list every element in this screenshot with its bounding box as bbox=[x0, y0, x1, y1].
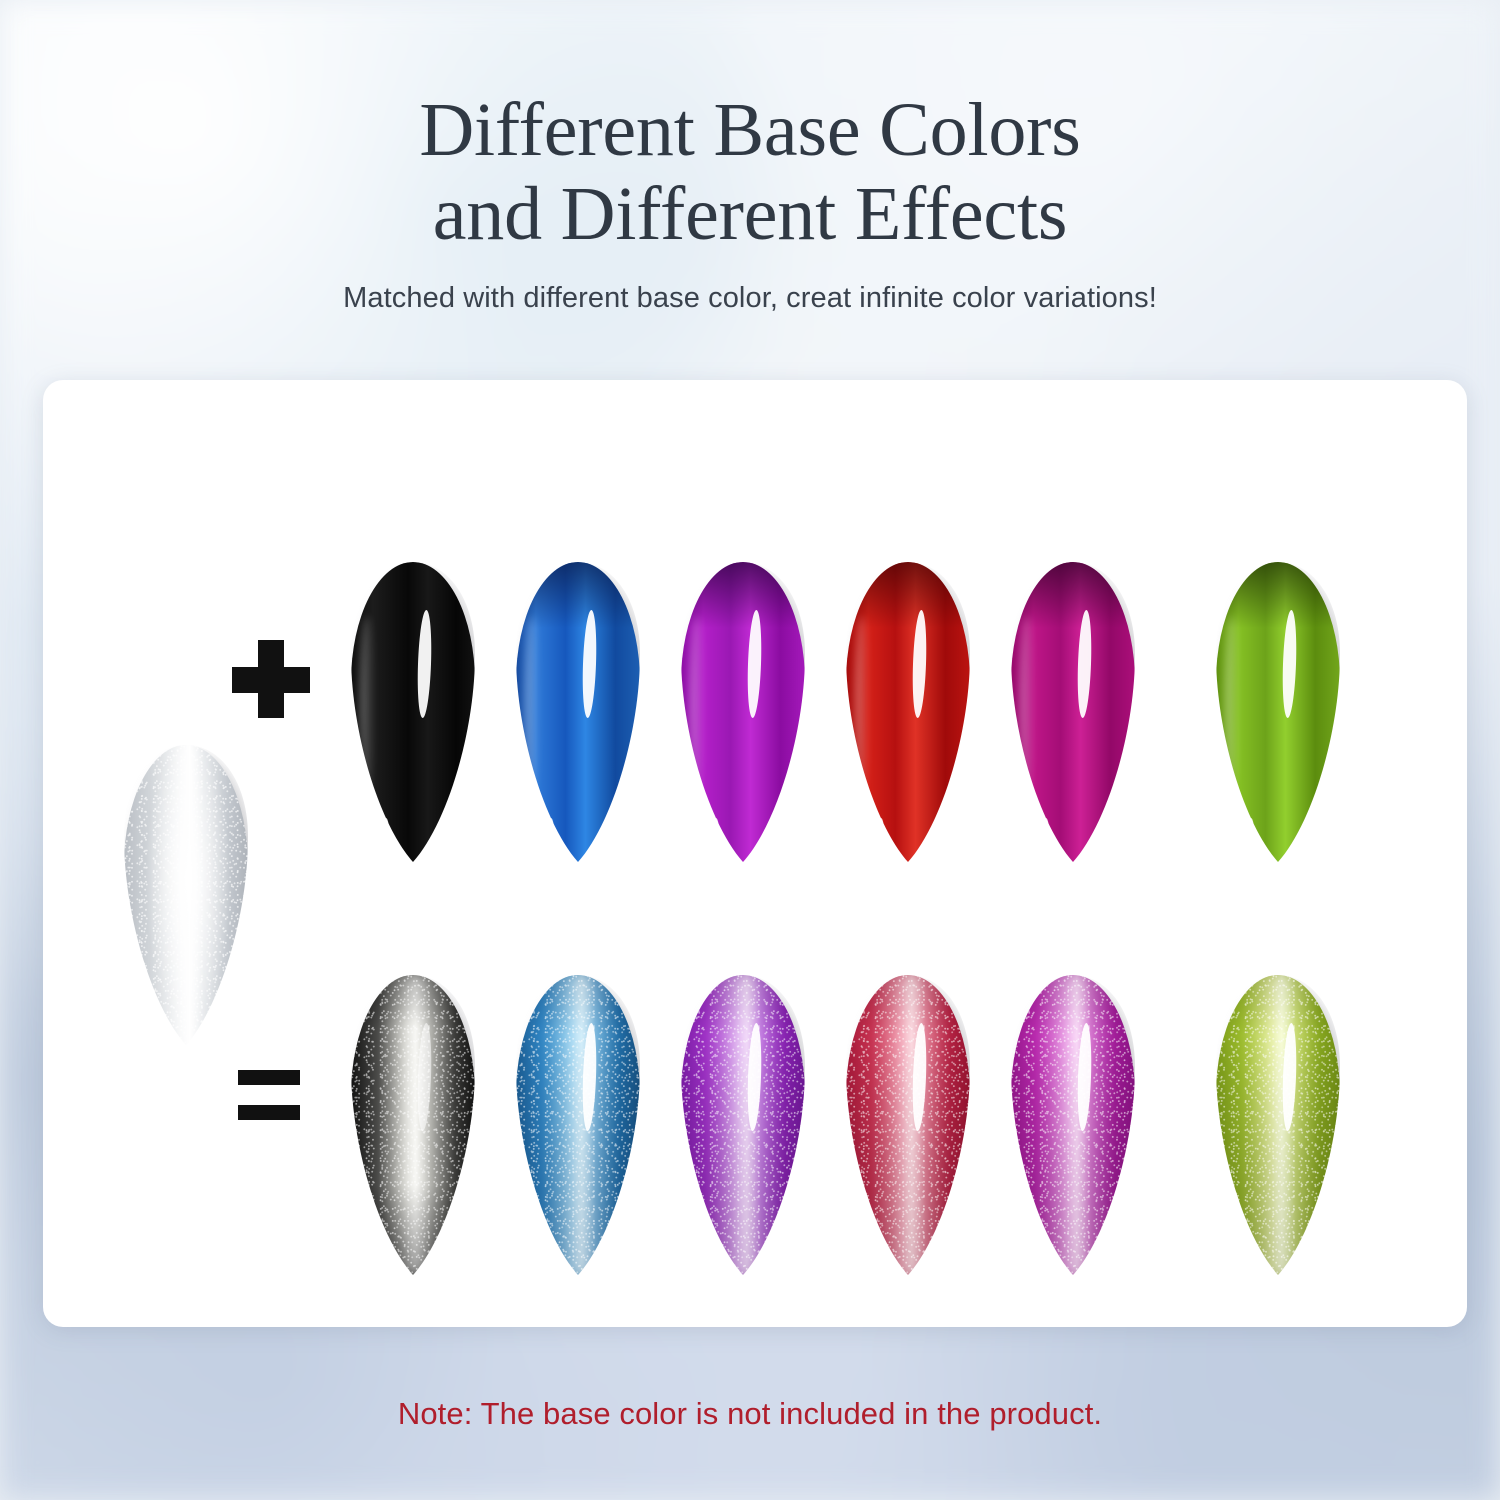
page-title: Different Base Colors and Different Effe… bbox=[0, 88, 1500, 256]
page-header: Different Base Colors and Different Effe… bbox=[0, 88, 1500, 315]
page-subtitle: Matched with different base color, creat… bbox=[0, 282, 1500, 315]
plus-operator-icon bbox=[232, 640, 310, 718]
equals-operator-icon bbox=[238, 1070, 300, 1120]
page-title-line-1: Different Base Colors bbox=[0, 88, 1500, 172]
disclaimer-note: Note: The base color is not included in … bbox=[0, 1396, 1500, 1432]
page-title-line-2: and Different Effects bbox=[0, 172, 1500, 256]
